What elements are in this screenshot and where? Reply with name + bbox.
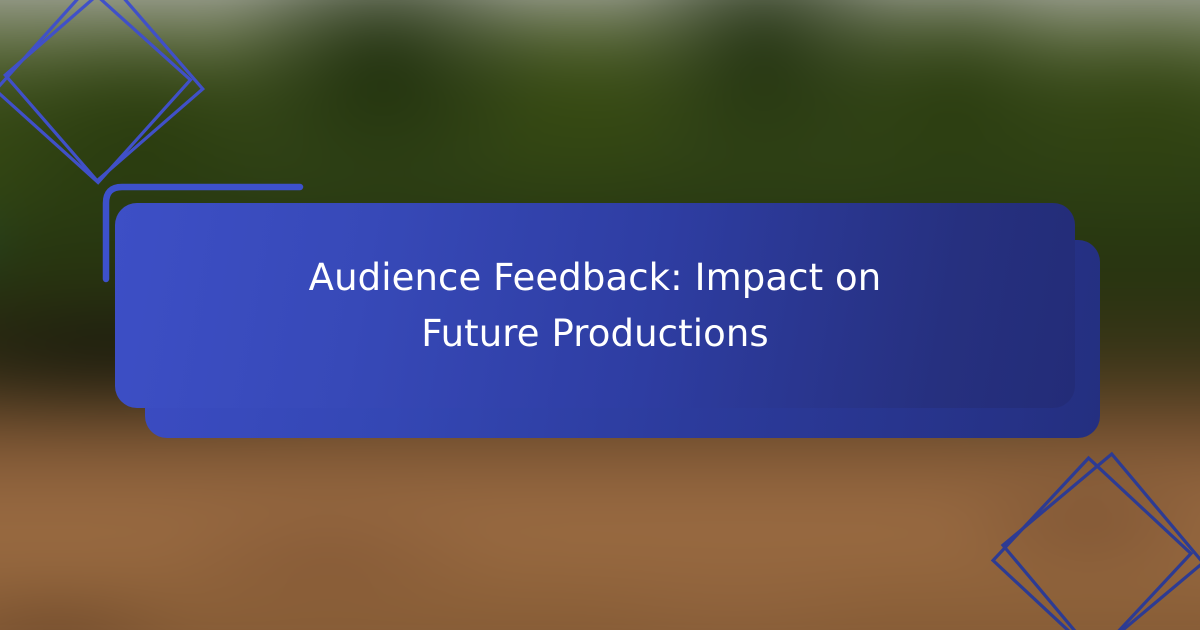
title-card: Audience Feedback: Impact on Future Prod… <box>115 203 1075 408</box>
diamond-shape-inner <box>1003 454 1200 630</box>
diamond-shape-outer <box>0 0 190 182</box>
diamond-shape-inner <box>5 0 203 181</box>
banner-title: Audience Feedback: Impact on Future Prod… <box>255 250 935 361</box>
diamond-decoration-bottom-right <box>978 441 1200 630</box>
diamond-shape-outer <box>993 458 1191 630</box>
banner-root: Audience Feedback: Impact on Future Prod… <box>0 0 1200 630</box>
diamond-decoration-top-left <box>0 0 222 194</box>
